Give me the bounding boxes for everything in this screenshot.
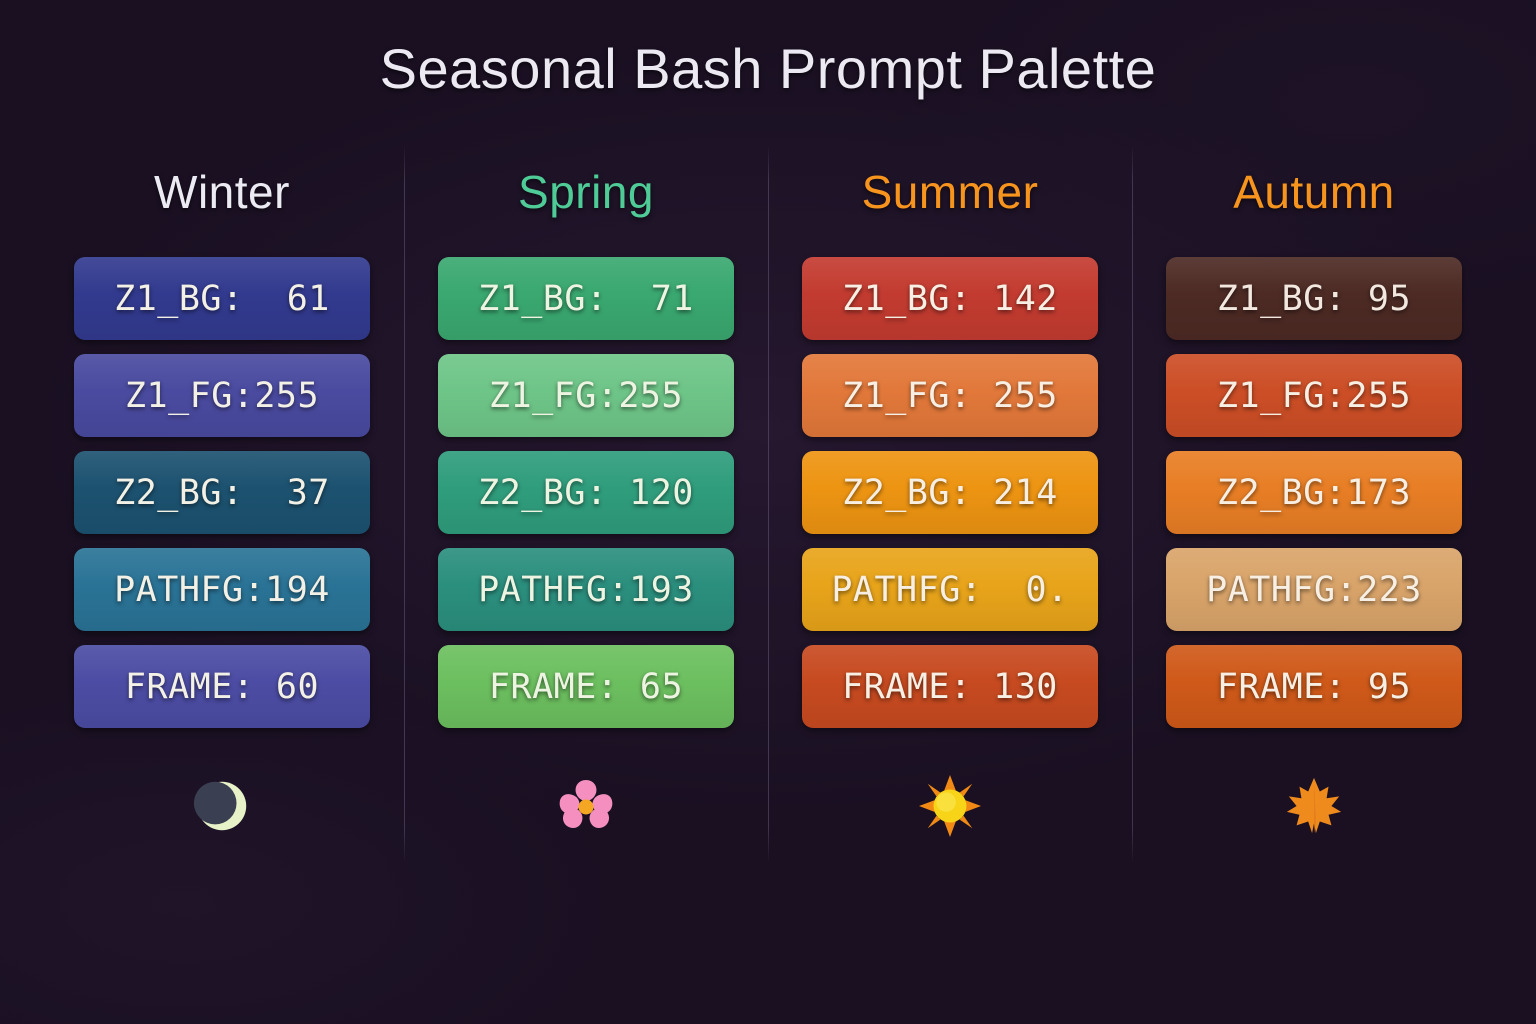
color-swatch[interactable]: PATHFG: 0. — [802, 548, 1098, 631]
season-column-winter: WinterZ1_BG: 61Z1_FG:255Z2_BG: 37PATHFG:… — [40, 145, 404, 863]
swatch-label: Z1_BG: 95 — [1217, 279, 1411, 319]
swatch-label: PATHFG:194 — [114, 570, 330, 610]
color-swatch[interactable]: PATHFG:194 — [74, 548, 370, 631]
sun-icon — [910, 766, 990, 846]
swatch-label: Z2_BG: 120 — [478, 473, 694, 513]
color-swatch[interactable]: Z1_FG:255 — [438, 354, 734, 437]
season-title: Summer — [862, 169, 1039, 215]
color-swatch[interactable]: Z2_BG: 120 — [438, 451, 734, 534]
swatch-label: Z2_BG:173 — [1217, 473, 1411, 513]
swatch-label: Z1_BG: 71 — [478, 279, 694, 319]
color-swatch[interactable]: Z1_FG:255 — [1166, 354, 1462, 437]
color-swatch[interactable]: FRAME: 65 — [438, 645, 734, 728]
season-column-autumn: AutumnZ1_BG: 95Z1_FG:255Z2_BG:173PATHFG:… — [1132, 145, 1496, 863]
season-title: Spring — [518, 169, 654, 215]
swatch-label: Z1_BG: 142 — [842, 279, 1058, 319]
swatch-label: Z1_FG:255 — [125, 376, 319, 416]
swatch-label: Z1_FG:255 — [1217, 376, 1411, 416]
swatch-label: FRAME: 130 — [842, 667, 1058, 707]
season-columns: WinterZ1_BG: 61Z1_FG:255Z2_BG: 37PATHFG:… — [40, 145, 1496, 863]
color-swatch[interactable]: Z1_BG: 95 — [1166, 257, 1462, 340]
swatch-stack: Z1_BG: 71Z1_FG:255Z2_BG: 120PATHFG:193FR… — [438, 257, 734, 728]
color-swatch[interactable]: FRAME: 95 — [1166, 645, 1462, 728]
color-swatch[interactable]: FRAME: 130 — [802, 645, 1098, 728]
color-swatch[interactable]: PATHFG:193 — [438, 548, 734, 631]
swatch-label: Z2_BG: 214 — [842, 473, 1058, 513]
season-column-summer: SummerZ1_BG: 142Z1_FG: 255Z2_BG: 214PATH… — [768, 145, 1132, 863]
color-swatch[interactable]: Z2_BG: 37 — [74, 451, 370, 534]
season-title: Winter — [154, 169, 290, 215]
swatch-label: PATHFG:193 — [478, 570, 694, 610]
swatch-label: PATHFG: 0. — [831, 570, 1068, 610]
swatch-label: Z1_FG: 255 — [842, 376, 1058, 416]
color-swatch[interactable]: Z1_FG:255 — [74, 354, 370, 437]
swatch-stack: Z1_BG: 61Z1_FG:255Z2_BG: 37PATHFG:194FRA… — [74, 257, 370, 728]
palette-page: Seasonal Bash Prompt Palette WinterZ1_BG… — [0, 0, 1536, 1024]
color-swatch[interactable]: Z2_BG:173 — [1166, 451, 1462, 534]
color-swatch[interactable]: Z1_BG: 71 — [438, 257, 734, 340]
swatch-stack: Z1_BG: 95Z1_FG:255Z2_BG:173PATHFG:223FRA… — [1166, 257, 1462, 728]
season-title: Autumn — [1233, 169, 1395, 215]
maple-leaf-icon — [1274, 766, 1354, 846]
color-swatch[interactable]: FRAME: 60 — [74, 645, 370, 728]
swatch-label: FRAME: 65 — [489, 667, 683, 707]
swatch-label: FRAME: 60 — [125, 667, 319, 707]
season-column-spring: SpringZ1_BG: 71Z1_FG:255Z2_BG: 120PATHFG… — [404, 145, 768, 863]
color-swatch[interactable]: Z1_BG: 61 — [74, 257, 370, 340]
swatch-label: Z2_BG: 37 — [114, 473, 330, 513]
swatch-label: Z1_BG: 61 — [114, 279, 330, 319]
cherry-blossom-icon — [546, 766, 626, 846]
crescent-moon-icon — [182, 766, 262, 846]
page-title: Seasonal Bash Prompt Palette — [0, 36, 1536, 101]
color-swatch[interactable]: Z1_FG: 255 — [802, 354, 1098, 437]
color-swatch[interactable]: Z2_BG: 214 — [802, 451, 1098, 534]
swatch-label: Z1_FG:255 — [489, 376, 683, 416]
color-swatch[interactable]: Z1_BG: 142 — [802, 257, 1098, 340]
swatch-label: FRAME: 95 — [1217, 667, 1411, 707]
swatch-label: PATHFG:223 — [1206, 570, 1422, 610]
swatch-stack: Z1_BG: 142Z1_FG: 255Z2_BG: 214PATHFG: 0.… — [802, 257, 1098, 728]
color-swatch[interactable]: PATHFG:223 — [1166, 548, 1462, 631]
